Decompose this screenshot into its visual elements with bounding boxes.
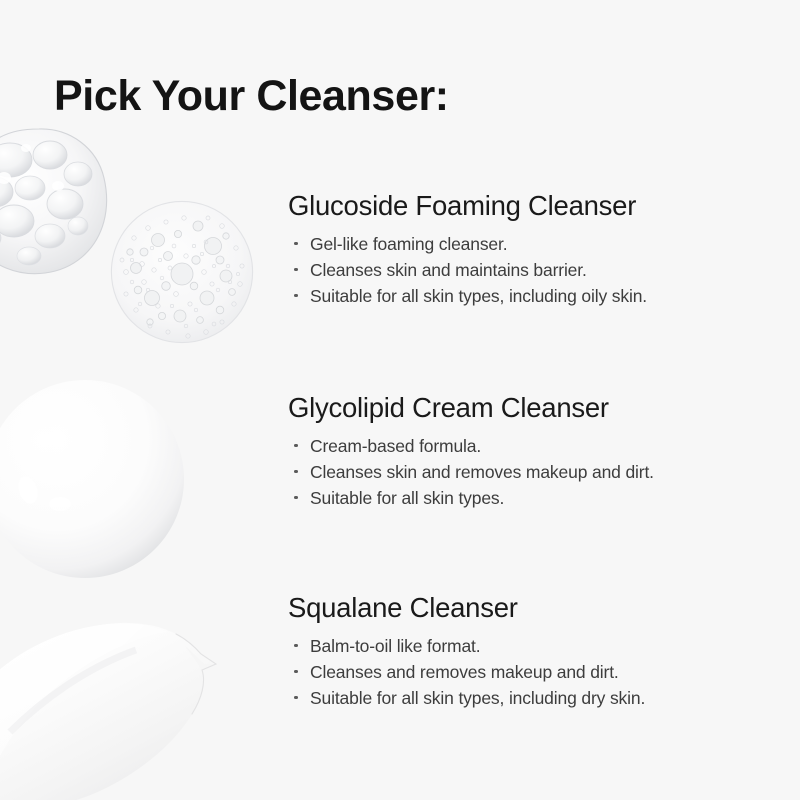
product-block-glycolipid-cream-cleanser: Glycolipid Cream Cleanser Cream-based fo… <box>288 392 788 511</box>
product-feature-list: Gel-like foaming cleanser. Cleanses skin… <box>288 231 788 309</box>
list-item-label: Cleanses skin and maintains barrier. <box>310 260 587 280</box>
cleanser-comparison-page: Pick Your Cleanser: Glucoside Foaming Cl… <box>0 0 800 800</box>
list-item-label: Gel-like foaming cleanser. <box>310 234 507 254</box>
list-item-label: Suitable for all skin types, including o… <box>310 286 647 306</box>
foam-circle-swatch <box>108 198 256 346</box>
list-item: Cleanses skin and removes makeup and dir… <box>288 459 788 485</box>
bullet-dot-icon <box>294 294 298 298</box>
product-block-glucoside-foaming-cleanser: Glucoside Foaming Cleanser Gel-like foam… <box>288 190 788 309</box>
list-item: Suitable for all skin types, including o… <box>288 283 788 309</box>
product-title: Glycolipid Cream Cleanser <box>288 392 788 424</box>
product-title: Glucoside Foaming Cleanser <box>288 190 788 222</box>
bullet-dot-icon <box>294 470 298 474</box>
list-item-label: Cleanses skin and removes makeup and dir… <box>310 462 654 482</box>
list-item: Balm-to-oil like format. <box>288 633 788 659</box>
bullet-dot-icon <box>294 242 298 246</box>
bullet-dot-icon <box>294 644 298 648</box>
product-feature-list: Cream-based formula. Cleanses skin and r… <box>288 433 788 511</box>
list-item: Cream-based formula. <box>288 433 788 459</box>
bullet-dot-icon <box>294 670 298 674</box>
balm-swatch <box>0 612 232 800</box>
list-item: Cleanses and removes makeup and dirt. <box>288 659 788 685</box>
bullet-dot-icon <box>294 496 298 500</box>
bullet-dot-icon <box>294 696 298 700</box>
page-title: Pick Your Cleanser: <box>54 73 449 120</box>
list-item-label: Suitable for all skin types. <box>310 488 504 508</box>
product-feature-list: Balm-to-oil like format. Cleanses and re… <box>288 633 788 711</box>
product-block-squalane-cleanser: Squalane Cleanser Balm-to-oil like forma… <box>288 592 788 711</box>
list-item-label: Cream-based formula. <box>310 436 481 456</box>
list-item: Gel-like foaming cleanser. <box>288 231 788 257</box>
list-item-label: Suitable for all skin types, including d… <box>310 688 645 708</box>
list-item-label: Cleanses and removes makeup and dirt. <box>310 662 619 682</box>
bullet-dot-icon <box>294 268 298 272</box>
list-item-label: Balm-to-oil like format. <box>310 636 480 656</box>
cream-sphere-swatch <box>0 378 186 580</box>
product-title: Squalane Cleanser <box>288 592 788 624</box>
gel-blob-swatch <box>0 126 116 278</box>
list-item: Suitable for all skin types. <box>288 485 788 511</box>
list-item: Suitable for all skin types, including d… <box>288 685 788 711</box>
list-item: Cleanses skin and maintains barrier. <box>288 257 788 283</box>
bullet-dot-icon <box>294 444 298 448</box>
